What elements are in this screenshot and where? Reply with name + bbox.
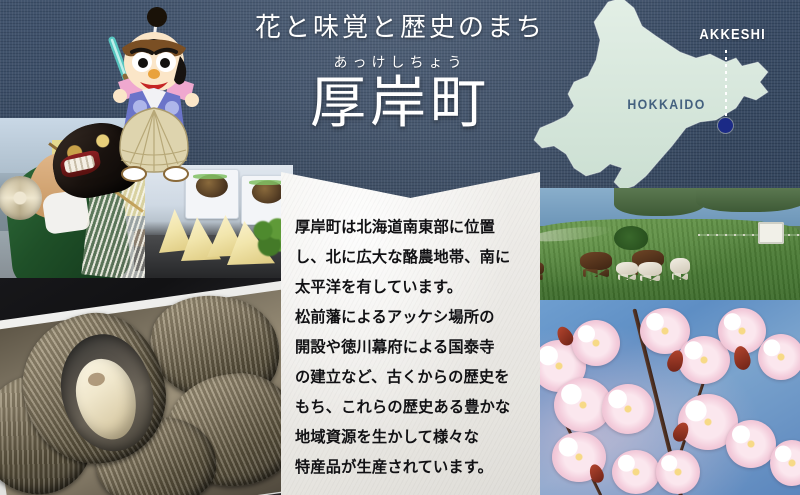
right-pupil <box>160 58 170 68</box>
map-location-marker-dot <box>718 118 733 133</box>
topknot-ball <box>147 7 167 27</box>
horses-grazing-pasture-photo <box>528 188 800 300</box>
fence-line <box>698 234 800 236</box>
akkeshi-town-promotional-banner: HOKKAIDO AKKESHI <box>0 0 800 495</box>
akkeshi-mascot-character <box>96 4 212 184</box>
cherry-blossom <box>656 450 700 494</box>
right-foot <box>164 167 188 181</box>
map-label-hokkaido: HOKKAIDO <box>627 96 705 112</box>
map-leader-dotted-line <box>725 50 727 122</box>
cherry-blossom-photo <box>528 300 800 495</box>
grazing-horse <box>580 252 612 270</box>
left-foot <box>122 167 146 181</box>
hand-bell-prop <box>0 176 42 220</box>
coastal-cliff-2 <box>696 188 800 212</box>
description-text: 厚岸町は北海道南東部に位置 し、北に広大な酪農地帯、南に 太平洋を有しています。… <box>295 212 528 482</box>
cherry-blossom <box>612 450 660 494</box>
description-panel: 厚岸町は北海道南東部に位置 し、北に広大な酪農地帯、南に 太平洋を有しています。… <box>281 172 540 495</box>
cherry-blossom <box>572 320 620 366</box>
grazing-horse <box>638 262 662 276</box>
left-hand <box>113 89 127 103</box>
shrub <box>614 226 648 250</box>
cherry-blossom <box>726 420 776 468</box>
nose <box>148 69 160 79</box>
signboard-post <box>758 222 784 244</box>
cherry-blossom <box>758 334 800 380</box>
coastal-cliff <box>614 188 706 216</box>
grazing-horse <box>616 262 638 275</box>
hokkaido-map: HOKKAIDO AKKESHI <box>530 0 800 192</box>
oysters-in-tray-photo <box>0 278 293 495</box>
map-label-akkeshi: AKKESHI <box>699 26 765 43</box>
grazing-horse <box>670 258 690 274</box>
right-hand <box>185 93 199 107</box>
cherry-blossom <box>770 440 800 486</box>
cherry-blossom <box>602 384 654 434</box>
left-pupil <box>138 58 148 68</box>
oyster-meat <box>69 353 143 445</box>
